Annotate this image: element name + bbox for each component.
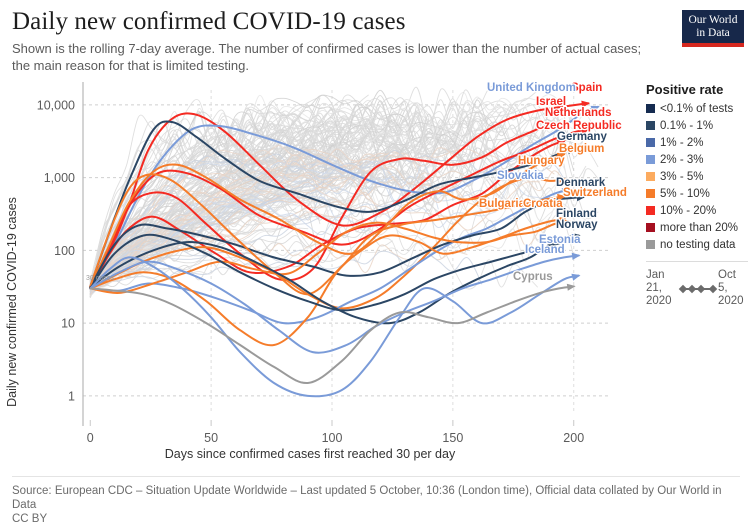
timeline-marker-2[interactable] [697,284,705,292]
legend-item-label: 0.1% - 1% [660,120,713,132]
country-label[interactable]: United Kingdom [487,82,576,94]
timeline-start-label: Jan 21, 2020 [646,269,678,308]
page-title: Daily new confirmed COVID-19 cases [12,8,662,36]
timeline-slider[interactable] [680,282,716,295]
country-label[interactable]: Bulgaria [479,198,526,210]
chart-subtitle: Shown is the rolling 7-day average. The … [12,40,642,74]
logo-line-2: in Data [684,27,742,40]
timeline-start-line-3: 2020 [646,295,678,308]
chart-header: Daily new confirmed COVID-19 cases Shown… [12,8,662,74]
country-label[interactable]: Netherlands [545,107,611,119]
legend-color-swatch [646,223,655,232]
country-label[interactable]: Slovakia [497,170,544,182]
legend-item-label: <0.1% of tests [660,103,733,115]
timeline-end-line-1: Oct [718,269,750,282]
country-line-end-arrow [571,274,580,281]
legend-item-label: 2% - 3% [660,154,703,166]
timeline-end-label: Oct 5, 2020 [718,269,750,308]
source-text: Source: European CDC – Situation Update … [12,484,740,512]
our-world-in-data-logo[interactable]: Our World in Data [682,10,744,47]
legend-color-swatch [646,155,655,164]
x-tick-label: 200 [563,431,584,445]
country-label[interactable]: Cyprus [513,271,553,283]
x-tick-label: 100 [322,431,343,445]
legend-item[interactable]: 10% - 20% [646,203,750,218]
timeline-handle-start[interactable] [679,284,687,292]
timeline-start-line-2: 21, [646,282,678,295]
line-chart-svg[interactable]: 1101001,00010,000 050100150200 SpainUnit… [0,72,640,462]
logo-line-1: Our World [684,14,742,27]
plot-area[interactable]: 1101001,00010,000 050100150200 SpainUnit… [0,72,640,462]
timeline-start-line-1: Jan [646,269,678,282]
legend-item[interactable]: no testing data [646,237,750,252]
country-line-end-arrow [567,284,576,291]
y-tick-label: 1,000 [44,171,75,185]
legend-item-label: 1% - 2% [660,137,703,149]
legend-item[interactable]: 5% - 10% [646,186,750,201]
country-label[interactable]: Iceland [525,244,565,256]
country-label[interactable]: Norway [556,219,598,231]
legend-item[interactable]: <0.1% of tests [646,101,750,116]
x-tick-label: 50 [204,431,218,445]
country-label[interactable]: Switzerland [563,187,627,199]
legend-item-label: no testing data [660,239,735,251]
legend-item-label: 10% - 20% [660,205,716,217]
timeline-control[interactable]: Jan 21, 2020 Oct 5, 2020 [646,269,750,308]
legend: Positive rate <0.1% of tests0.1% - 1%1% … [646,82,750,308]
legend-divider [646,261,748,262]
license-text: CC BY [12,512,740,526]
legend-color-swatch [646,206,655,215]
y-axis-title: Daily new confirmed COVID-19 cases [5,197,19,407]
legend-color-swatch [646,189,655,198]
legend-color-swatch [646,172,655,181]
legend-item[interactable]: more than 20% [646,220,750,235]
legend-item-label: more than 20% [660,222,738,234]
chart-footer: Source: European CDC – Situation Update … [12,476,740,526]
country-label[interactable]: Hungary [518,155,565,167]
y-tick-label: 10 [61,317,75,331]
chart-page: Daily new confirmed COVID-19 cases Shown… [0,0,752,531]
country-line-path[interactable] [90,257,578,396]
y-tick-label: 1 [68,389,75,403]
legend-color-swatch [646,121,655,130]
legend-color-swatch [646,104,655,113]
x-tick-label: 150 [442,431,463,445]
legend-item[interactable]: 2% - 3% [646,152,750,167]
legend-item[interactable]: 0.1% - 1% [646,118,750,133]
legend-color-swatch [646,240,655,249]
country-line-end-arrow [572,253,581,260]
legend-item[interactable]: 1% - 2% [646,135,750,150]
y-axis-tick-labels: 1101001,00010,000 [37,98,75,403]
timeline-handle-end[interactable] [709,284,717,292]
y-tick-label: 10,000 [37,98,75,112]
legend-item-list: <0.1% of tests0.1% - 1%1% - 2%2% - 3%3% … [646,101,750,252]
x-axis-title: Days since confirmed cases first reached… [165,447,456,461]
x-axis-tick-labels: 050100150200 [87,431,584,445]
timeline-marker-1[interactable] [688,284,696,292]
legend-item-label: 5% - 10% [660,188,710,200]
legend-item[interactable]: 3% - 5% [646,169,750,184]
legend-color-swatch [646,138,655,147]
x-tick-label: 0 [87,431,94,445]
timeline-end-line-3: 2020 [718,295,750,308]
country-line[interactable] [90,284,575,383]
legend-item-label: 3% - 5% [660,171,703,183]
timeline-end-line-2: 5, [718,282,750,295]
y-tick-label: 100 [54,244,75,258]
country-label[interactable]: Belgium [559,143,604,155]
legend-title: Positive rate [646,82,750,97]
origin-annotation: 30 cases [86,275,115,282]
country-label[interactable]: Germany [557,131,607,143]
